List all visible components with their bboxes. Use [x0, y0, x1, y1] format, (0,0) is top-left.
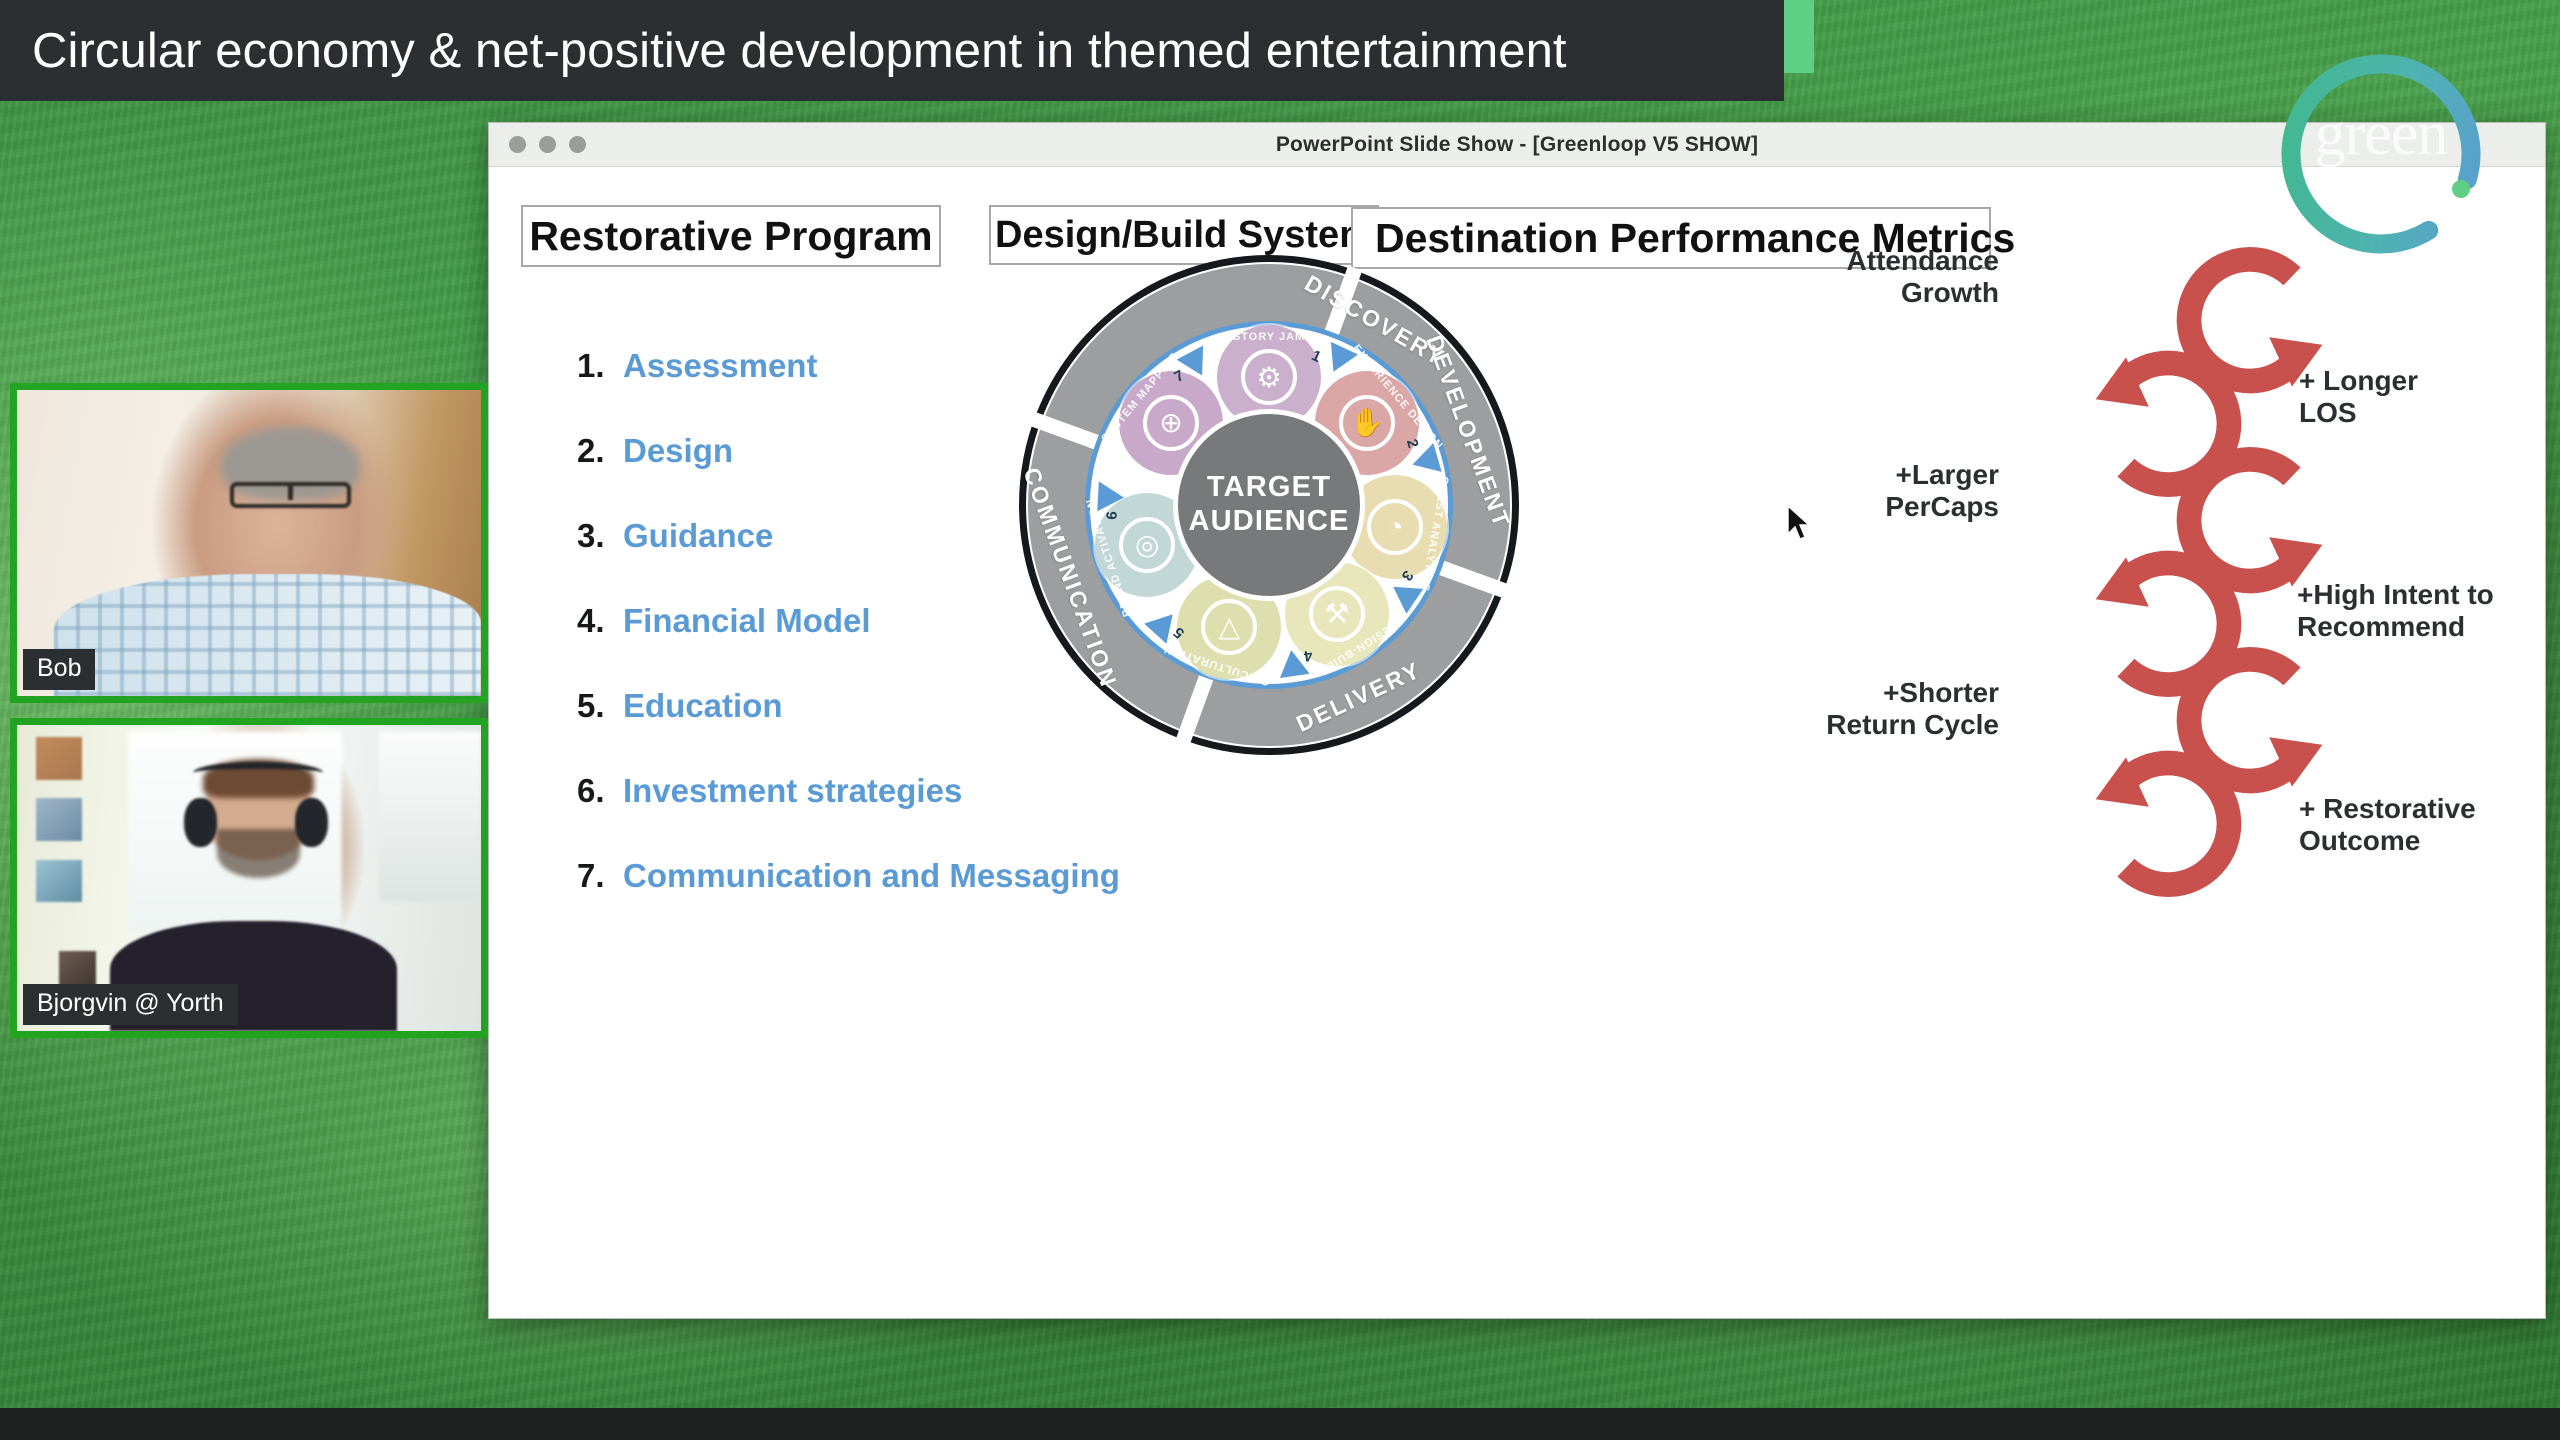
metric-label: AttendanceGrowth — [1759, 245, 1999, 310]
metric-label: +High Intent toRecommend — [2297, 579, 2545, 644]
list-item: 2.Design — [577, 432, 1007, 470]
list-item-label: Design — [623, 432, 733, 470]
list-item-number: 7. — [577, 857, 623, 895]
list-item: 6.Investment strategies — [577, 772, 1007, 810]
logo-word-green: green — [2281, 106, 2481, 163]
logo-word-loop: loop — [2281, 163, 2481, 220]
pie-chart-icon: ◔ — [1367, 499, 1423, 555]
video-detail — [379, 731, 481, 902]
wheel-hub: TARGET AUDIENCE — [1173, 409, 1365, 601]
participant-name-label: Bob — [23, 649, 95, 690]
list-item-number: 3. — [577, 517, 623, 555]
video-detail — [54, 574, 481, 696]
list-item-label: Assessment — [623, 347, 817, 385]
hub-line-2: AUDIENCE — [1188, 505, 1349, 539]
video-detail — [295, 798, 327, 847]
window-title: PowerPoint Slide Show - [Greenloop V5 SH… — [489, 133, 2545, 157]
participant-name-label: Bjorgvin @ Yorth — [23, 984, 238, 1025]
page-title: Circular economy & net-positive developm… — [0, 23, 1567, 79]
slide-canvas[interactable]: Restorative Program Design/Build System … — [489, 167, 2545, 1318]
metric-label-line-2: LOS — [2299, 397, 2539, 429]
video-detail — [184, 798, 216, 847]
numbered-step-list: 1.Assessment2.Design3.Guidance4.Financia… — [577, 347, 1007, 942]
metric-label-line-1: + Longer — [2299, 365, 2539, 397]
metric-label-line-2: Growth — [1759, 277, 1999, 309]
globe-grid-icon: ⊕ — [1143, 395, 1199, 451]
list-item-label: Education — [623, 687, 783, 725]
bottom-toolbar-strip — [0, 1408, 2560, 1440]
fingerprint-icon: ◎ — [1119, 517, 1175, 573]
wheel-arrow-6 — [1097, 481, 1125, 512]
metric-label-line-2: Outcome — [2299, 825, 2545, 857]
metric-label-line-1: + Restorative — [2299, 793, 2545, 825]
list-item: 7.Communication and Messaging — [577, 857, 1007, 895]
metric-label-line-2: Return Cycle — [1741, 709, 1999, 741]
list-item-number: 4. — [577, 602, 623, 640]
video-detail — [36, 737, 82, 780]
list-item-number: 6. — [577, 772, 623, 810]
list-item-label: Guidance — [623, 517, 773, 555]
metrics-loop-chain: AttendanceGrowth+ LongerLOS+LargerPerCap… — [2009, 227, 2529, 1177]
video-detail — [36, 860, 82, 903]
metric-label: +ShorterReturn Cycle — [1741, 677, 1999, 742]
list-item-label: Financial Model — [623, 602, 871, 640]
hub-line-1: TARGET — [1207, 471, 1331, 505]
metric-label-line-1: +Larger — [1759, 459, 1999, 491]
triangle-loop-icon: △ — [1201, 599, 1257, 655]
list-item: 1.Assessment — [577, 347, 1007, 385]
wheel-step-number: 6 — [1104, 511, 1121, 520]
list-item-label: Communication and Messaging — [623, 857, 1120, 895]
meeting-title-banner: Circular economy & net-positive developm… — [0, 0, 1784, 101]
metric-loop-arrow — [2069, 727, 2259, 917]
process-wheel-diagram: DISCOVERYDEVELOPMENTDELIVERYCOMMUNICATIO… — [1019, 255, 1519, 755]
video-detail — [230, 482, 351, 508]
video-detail — [217, 829, 301, 878]
metric-label: + LongerLOS — [2299, 365, 2539, 430]
list-item-number: 5. — [577, 687, 623, 725]
list-item: 5.Education — [577, 687, 1007, 725]
list-item-label: Investment strategies — [623, 772, 962, 810]
list-item-number: 1. — [577, 347, 623, 385]
logo-wordmark: green loop — [2281, 106, 2481, 220]
window-titlebar[interactable]: PowerPoint Slide Show - [Greenloop V5 SH… — [489, 123, 2545, 167]
participant-tile-bjorgvin[interactable]: Bjorgvin @ Yorth — [10, 718, 488, 1038]
header-box-restorative-program: Restorative Program — [521, 205, 941, 267]
participant-tile-bob[interactable]: Bob — [10, 383, 488, 703]
hand-touch-icon: ✋ — [1339, 395, 1395, 451]
video-detail — [193, 762, 323, 783]
video-detail — [36, 798, 82, 841]
metric-label-line-1: Attendance — [1759, 245, 1999, 277]
metric-label-line-1: +High Intent to — [2297, 579, 2545, 611]
list-item: 3.Guidance — [577, 517, 1007, 555]
list-item-number: 2. — [577, 432, 623, 470]
metric-label-line-2: Recommend — [2297, 611, 2545, 643]
metric-label-line-1: +Shorter — [1741, 677, 1999, 709]
gear-icon: ⚙ — [1241, 349, 1297, 405]
metric-label: + RestorativeOutcome — [2299, 793, 2545, 858]
powerpoint-window[interactable]: PowerPoint Slide Show - [Greenloop V5 SH… — [488, 122, 2546, 1319]
list-item: 4.Financial Model — [577, 602, 1007, 640]
mouse-cursor-icon — [1786, 505, 1816, 545]
greenloop-logo: green loop — [2271, 44, 2491, 264]
tools-icon: ⚒ — [1309, 586, 1365, 642]
